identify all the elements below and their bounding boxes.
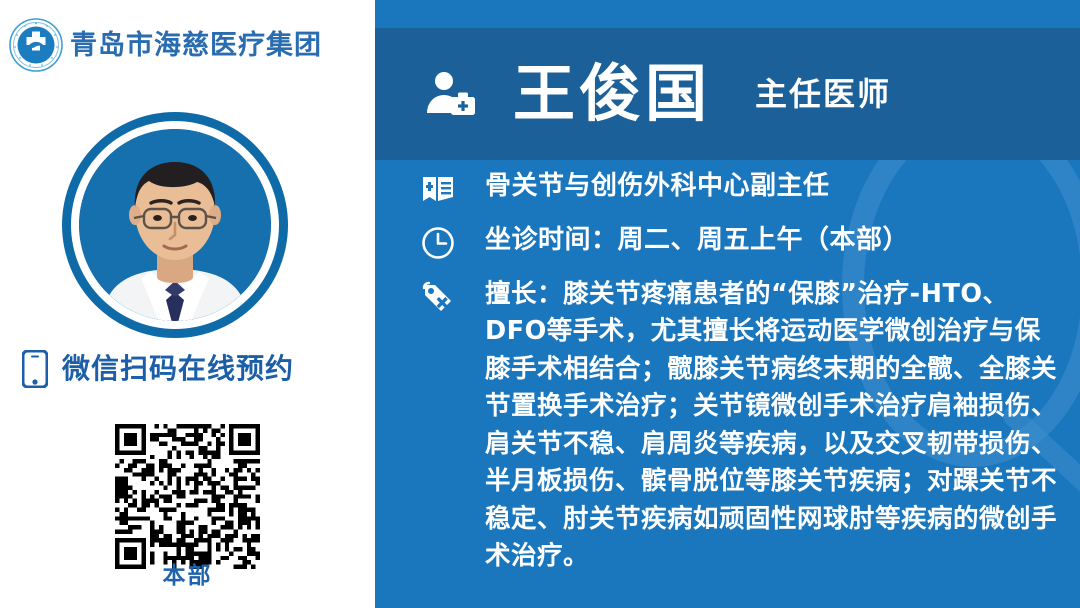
info-row-specialty: 擅长：膝关节疼痛患者的“保膝”治疗-HTO、DFO等手术，尤其擅长将运动医学微创…	[375, 276, 1080, 576]
clock-icon	[421, 226, 455, 260]
doctor-with-medical-bag-icon	[423, 67, 477, 121]
qr-caption: 本部	[0, 556, 375, 590]
left-panel: 青岛市海慈医疗集团	[0, 0, 375, 608]
doctor-name: 王俊国	[513, 63, 711, 125]
mobile-phone-icon	[22, 350, 48, 388]
hospital-circular-emblem-icon	[8, 17, 64, 73]
info-panel: 王俊国 主任医师 骨关节与创伤外科中心副主任	[375, 0, 1080, 608]
info-row-hours: 坐诊时间：周二、周五上午（本部）	[375, 222, 1080, 260]
header-band: 王俊国 主任医师	[375, 28, 1080, 160]
brand-name: 青岛市海慈医疗集团	[70, 32, 322, 59]
medical-tag-icon	[421, 280, 455, 314]
info-text-specialty: 擅长：膝关节疼痛患者的“保膝”治疗-HTO、DFO等手术，尤其擅长将运动医学微创…	[485, 276, 1058, 576]
info-text-hours: 坐诊时间：周二、周五上午（本部）	[485, 222, 909, 259]
qr-code[interactable]	[115, 424, 260, 569]
info-text-position: 骨关节与创伤外科中心副主任	[485, 168, 830, 205]
brand-row: 青岛市海慈医疗集团	[8, 16, 368, 74]
medical-badge-book-icon	[421, 172, 455, 206]
portrait	[62, 112, 288, 338]
info-list: 骨关节与创伤外科中心副主任 坐诊时间：周二、周五上午（本部）	[375, 168, 1080, 576]
qr-code-canvas[interactable]	[115, 424, 260, 569]
doctor-title: 主任医师	[755, 78, 891, 110]
doctor-profile-card: 青岛市海慈医疗集团	[0, 0, 1080, 608]
info-row-position: 骨关节与创伤外科中心副主任	[375, 168, 1080, 206]
wechat-appointment-label: 微信扫码在线预约	[62, 355, 294, 383]
avatar	[79, 129, 271, 321]
wechat-appointment-row: 微信扫码在线预约	[22, 348, 362, 390]
